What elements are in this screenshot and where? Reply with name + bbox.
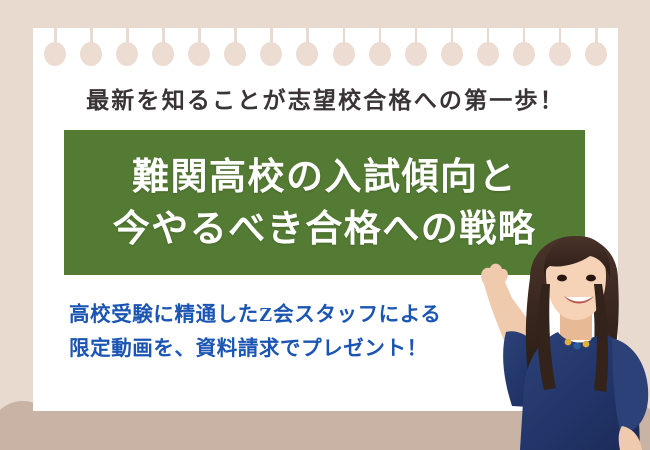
dot-stem bbox=[126, 28, 129, 48]
hanging-dot bbox=[581, 28, 611, 70]
hanging-dot bbox=[509, 28, 539, 70]
dot-circle bbox=[188, 42, 210, 66]
dot-stem bbox=[198, 28, 201, 48]
hanging-dot bbox=[256, 28, 286, 70]
dot-circle bbox=[152, 42, 174, 66]
dot-circle bbox=[80, 42, 102, 66]
presenter-photo bbox=[462, 236, 650, 450]
dot-stem bbox=[162, 28, 165, 48]
hanging-dot bbox=[112, 28, 142, 70]
dot-stem bbox=[451, 28, 454, 48]
dot-circle bbox=[260, 42, 282, 66]
dot-circle bbox=[405, 42, 427, 66]
dot-stem bbox=[234, 28, 237, 48]
promo-banner: 最新を知ることが志望校合格への第一歩！ 難関高校の入試傾向と 今やるべき合格への… bbox=[0, 0, 650, 450]
presenter-eye-right bbox=[586, 275, 596, 282]
dot-circle bbox=[296, 42, 318, 66]
presenter-eye-left bbox=[557, 275, 567, 282]
title-line-1: 難関高校の入試傾向と bbox=[132, 151, 517, 202]
hanging-dots-row bbox=[33, 28, 618, 70]
dot-circle bbox=[513, 42, 535, 66]
dot-stem bbox=[54, 28, 57, 48]
dot-circle bbox=[116, 42, 138, 66]
hanging-dot bbox=[148, 28, 178, 70]
dot-stem bbox=[415, 28, 418, 48]
hanging-dot bbox=[545, 28, 575, 70]
hanging-dot bbox=[184, 28, 214, 70]
dot-stem bbox=[379, 28, 382, 48]
hanging-dot bbox=[437, 28, 467, 70]
dot-circle bbox=[224, 42, 246, 66]
dot-stem bbox=[306, 28, 309, 48]
dot-stem bbox=[343, 28, 346, 48]
hanging-dot bbox=[76, 28, 106, 70]
hanging-dot bbox=[292, 28, 322, 70]
dot-circle bbox=[333, 42, 355, 66]
dot-circle bbox=[369, 42, 391, 66]
dot-circle bbox=[585, 42, 607, 66]
hanging-dot bbox=[365, 28, 395, 70]
dot-stem bbox=[270, 28, 273, 48]
hanging-dot bbox=[40, 28, 70, 70]
dot-circle bbox=[477, 42, 499, 66]
hanging-dot bbox=[473, 28, 503, 70]
headline-text: 最新を知ることが志望校合格への第一歩！ bbox=[33, 81, 618, 115]
hanging-dot bbox=[220, 28, 250, 70]
dot-stem bbox=[523, 28, 526, 48]
dot-circle bbox=[549, 42, 571, 66]
hanging-dot bbox=[401, 28, 431, 70]
dot-stem bbox=[487, 28, 490, 48]
dot-stem bbox=[90, 28, 93, 48]
dot-stem bbox=[559, 28, 562, 48]
dot-stem bbox=[595, 28, 598, 48]
hanging-dot bbox=[329, 28, 359, 70]
dot-circle bbox=[44, 42, 66, 66]
dot-circle bbox=[441, 42, 463, 66]
